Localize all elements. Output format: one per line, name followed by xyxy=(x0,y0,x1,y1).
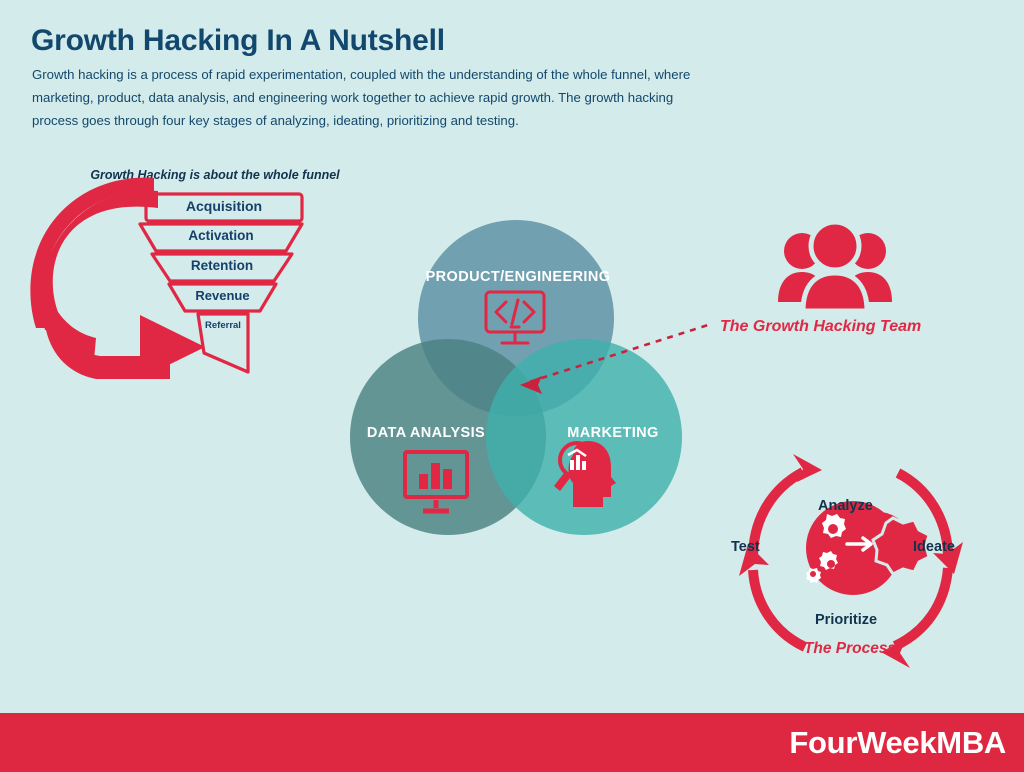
process-arc-ideate-to-prioritize xyxy=(895,568,948,646)
venn-label-data: DATA ANALYSIS xyxy=(336,425,516,441)
funnel-stage-shape-referral xyxy=(198,314,248,372)
funnel-stage-shape-revenue xyxy=(169,284,276,311)
venn-label-product: PRODUCT/ENGINEERING xyxy=(418,269,618,285)
funnel-stage-shape-activation xyxy=(140,224,302,251)
process-label-test: Test xyxy=(731,539,760,555)
process-label-analyze: Analyze xyxy=(818,498,873,514)
process-label-ideate: Ideate xyxy=(913,539,955,555)
venn-label-marketing: MARKETING xyxy=(523,425,703,441)
page-subtitle: Growth hacking is a process of rapid exp… xyxy=(32,63,722,132)
venn-section: PRODUCT/ENGINEERING DATA ANALYSIS MARKET… xyxy=(330,215,710,540)
footer-brand: FourWeekMBA xyxy=(789,725,1006,761)
page-title: Growth Hacking In A Nutshell xyxy=(31,24,445,58)
team-label: The Growth Hacking Team xyxy=(720,318,1020,336)
funnel-stage-shape-acquisition xyxy=(146,194,302,221)
process-caption: The Process xyxy=(705,640,995,658)
team-section: The Growth Hacking Team xyxy=(720,218,1020,338)
process-section: Analyze Ideate Prioritize Test The Proce… xyxy=(705,440,1005,680)
funnel-graphic xyxy=(30,160,360,395)
process-arc-test-to-analyze xyxy=(753,472,803,558)
process-arc-prioritize-to-test xyxy=(753,570,805,647)
people-group-icon xyxy=(770,218,900,318)
funnel-stage-shape-retention xyxy=(152,254,292,281)
gears-innovation-icon xyxy=(806,501,929,595)
process-label-prioritize: Prioritize xyxy=(815,612,877,628)
funnel-section: Growth Hacking is about the whole funnel… xyxy=(30,160,360,395)
venn-graphic xyxy=(330,215,710,540)
footer-bar: FourWeekMBA xyxy=(0,713,1024,772)
